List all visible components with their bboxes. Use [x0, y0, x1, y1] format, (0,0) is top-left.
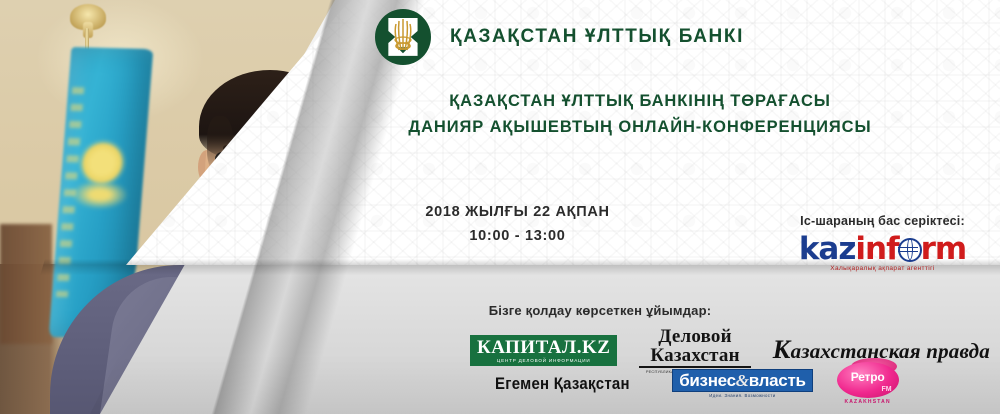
event-title: ҚАЗАҚСТАН ҰЛТТЫҚ БАНКІНІҢ ТӨРАҒАСЫ ДАНИЯ…: [395, 88, 885, 140]
kazinform-rm: rm: [921, 231, 967, 267]
retro-fm-label: FM: [882, 386, 892, 393]
national-bank-emblem-icon: [372, 6, 434, 68]
biz-title-a: бизнес: [679, 371, 736, 390]
supporters-label: Бізге қолдау көрсеткен ұйымдар:: [440, 303, 760, 318]
event-time: 10:00 - 13:00: [405, 224, 630, 248]
event-datetime: 2018 ЖЫЛҒЫ 22 АҚПАН 10:00 - 13:00: [405, 200, 630, 248]
logo-kazakhstanskaya-pravda[interactable]: Казахстанская правда: [773, 335, 990, 365]
kazinform-kaz: kaz: [799, 231, 856, 267]
flag-finial: [70, 4, 106, 30]
event-title-line-1: ҚАЗАҚСТАН ҰЛТТЫҚ БАНКІНІҢ ТӨРАҒАСЫ: [395, 88, 885, 114]
biz-amp: &: [736, 371, 749, 390]
retro-title: Ретро: [837, 371, 899, 383]
biz-subtitle: Идеи. Знания. Возможности: [672, 393, 812, 398]
biz-title-b: власть: [749, 371, 806, 390]
conference-banner: ҚАЗАҚСТАН ҰЛТТЫҚ БАНКІ ҚАЗАҚСТАН ҰЛТТЫҚ …: [0, 0, 1000, 414]
event-date: 2018 ЖЫЛҒЫ 22 АҚПАН: [405, 200, 630, 224]
furniture: [0, 224, 52, 344]
biz-title: бизнес&власть: [672, 369, 812, 393]
logo-biznes-i-vlast[interactable]: бизнес&власть Идеи. Знания. Возможности: [672, 369, 812, 399]
kazinform-logo[interactable]: kazinfrm Халықаралық ақпарат агенттігі: [770, 234, 995, 273]
retro-oval: Ретро FM: [837, 362, 899, 398]
kazinform-inf: inf: [855, 231, 898, 267]
kapital-title: КАПИТАЛ.KZ: [477, 338, 610, 357]
bank-header: ҚАЗАҚСТАН ҰЛТТЫҚ БАНКІ: [372, 6, 744, 68]
kp-capital: К: [773, 335, 791, 364]
logo-retro-fm[interactable]: Ретро FM KAZAKHSTAN: [837, 362, 899, 405]
retro-country: KAZAKHSTAN: [837, 400, 899, 405]
bank-name-label: ҚАЗАҚСТАН ҰЛТТЫҚ БАНКІ: [450, 26, 744, 48]
logo-egemen-qazaqstan[interactable]: Егемен Қазақстан: [495, 374, 630, 394]
globe-icon: [898, 238, 922, 262]
main-partner-label: Іс-шараның бас серіктесі:: [770, 214, 995, 228]
supporters-row-2: Егемен Қазақстан бизнес&власть Идеи. Зна…: [495, 362, 965, 405]
main-partner-block: Іс-шараның бас серіктесі: kazinfrm Халық…: [770, 214, 995, 273]
event-title-line-2: ДАНИЯР АҚЫШЕВТЫҢ ОНЛАЙН-КОНФЕРЕНЦИЯСЫ: [395, 114, 885, 140]
